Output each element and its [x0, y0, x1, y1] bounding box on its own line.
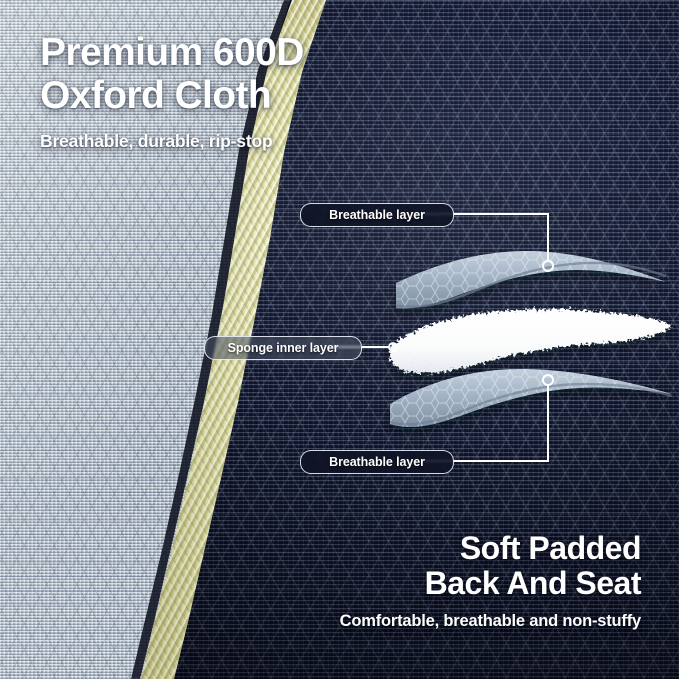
headline-block: Premium 600D Oxford Cloth Breathable, du… [40, 32, 460, 152]
headline-line-2: Oxford Cloth [40, 75, 460, 118]
callout-breathable-layer-bottom: Breathable layer [300, 450, 454, 474]
headline-title: Premium 600D Oxford Cloth [40, 32, 460, 117]
footer-subtitle: Comfortable, breathable and non-stuffy [340, 612, 641, 631]
callout-label: Breathable layer [329, 208, 425, 222]
footer-line-1: Soft Padded [340, 531, 641, 566]
footer-title: Soft Padded Back And Seat [340, 531, 641, 601]
footer-line-2: Back And Seat [340, 566, 641, 601]
footer-block: Soft Padded Back And Seat Comfortable, b… [340, 531, 641, 631]
callout-label: Breathable layer [329, 455, 425, 469]
headline-subtitle: Breathable, durable, rip-stop [40, 131, 460, 152]
callout-label: Sponge inner layer [228, 341, 339, 355]
product-feature-image: Premium 600D Oxford Cloth Breathable, du… [0, 0, 679, 679]
headline-line-1: Premium 600D [40, 32, 460, 75]
callout-sponge-inner-layer: Sponge inner layer [204, 336, 362, 360]
callout-breathable-layer-top: Breathable layer [300, 203, 454, 227]
